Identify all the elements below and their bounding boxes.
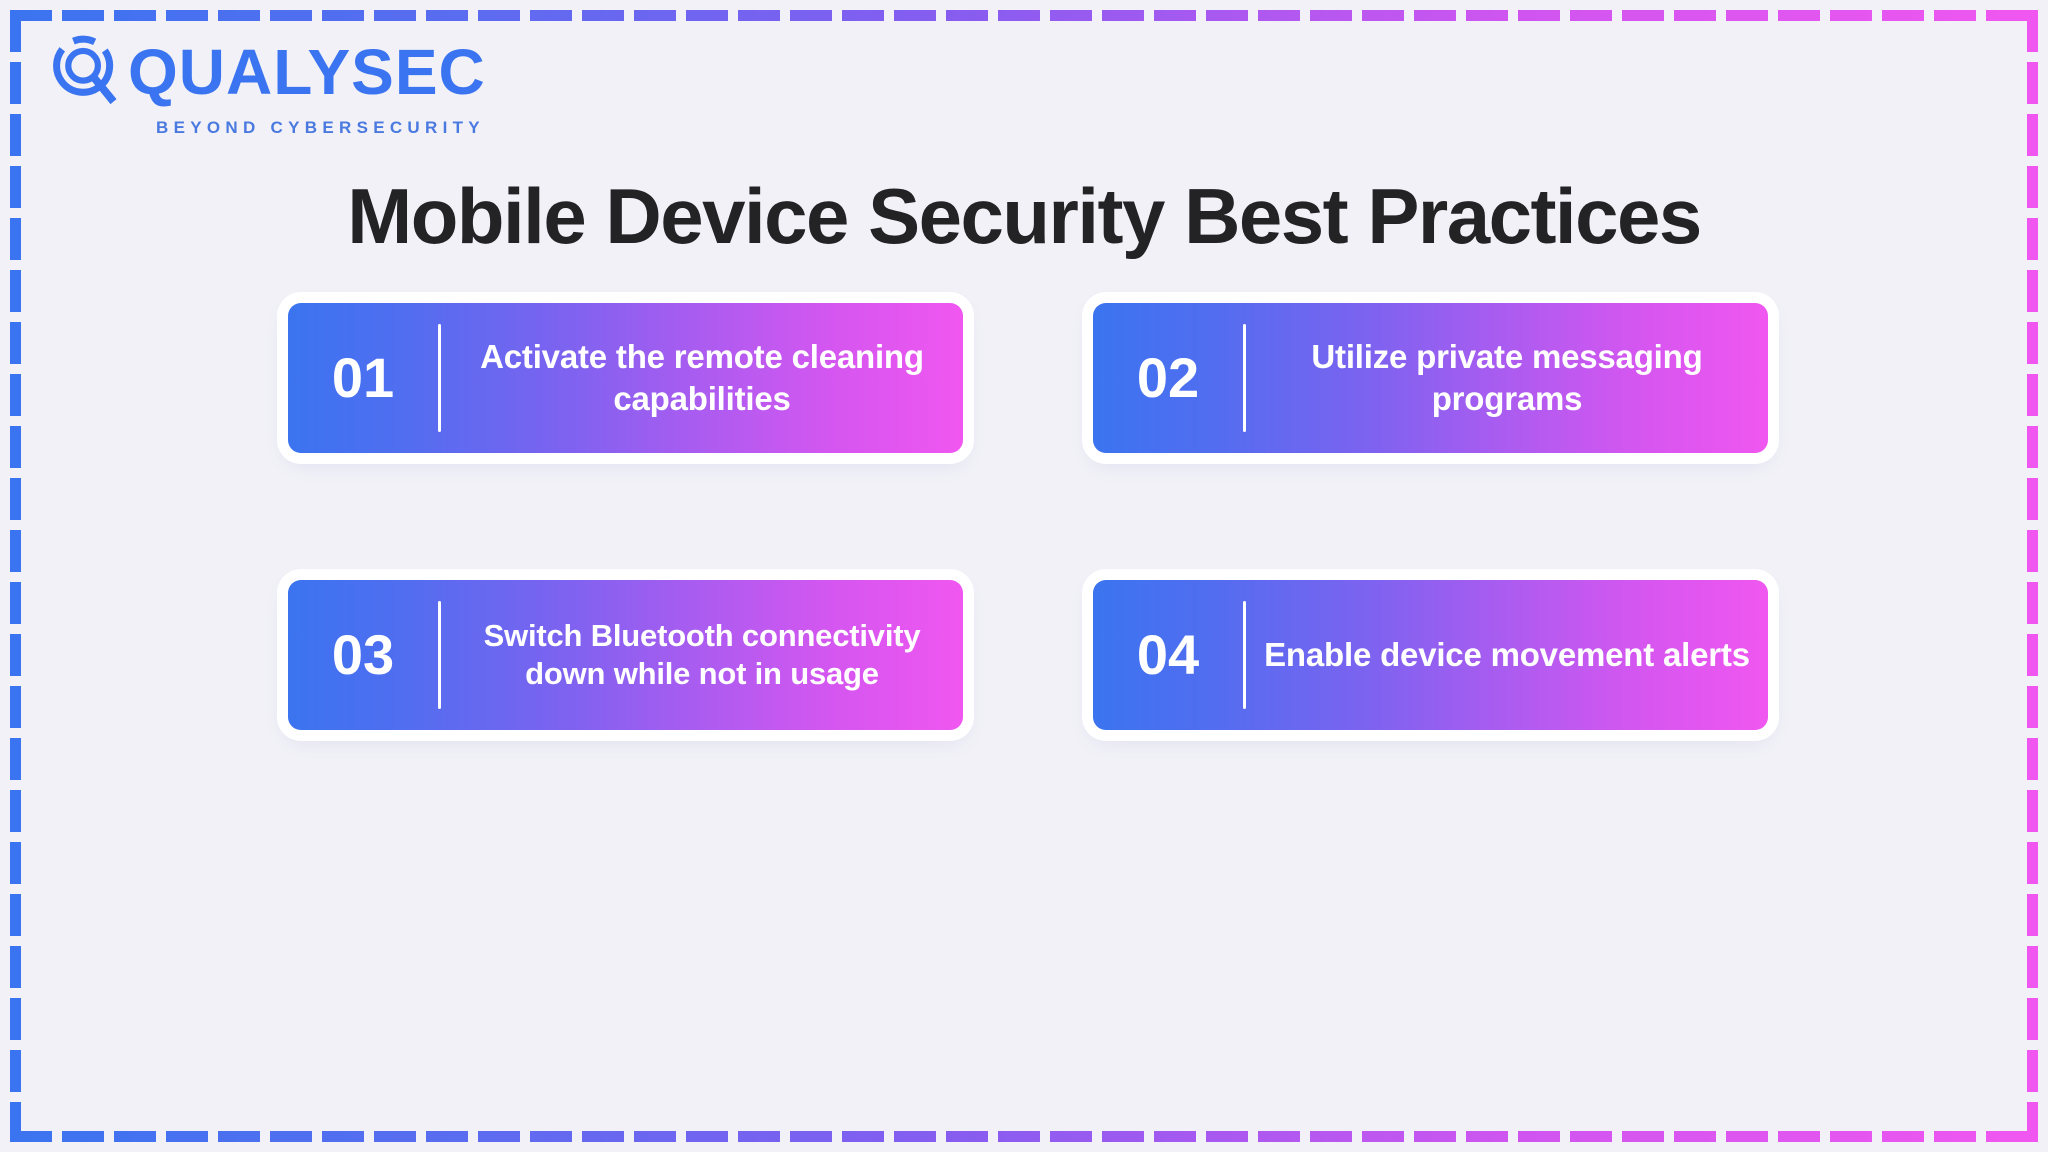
logo-tagline: BEYOND CYBERSECURITY [156, 118, 568, 138]
practice-card-04: 04 Enable device movement alerts [1093, 580, 1768, 730]
page-title: Mobile Device Security Best Practices [21, 176, 2027, 258]
poster-canvas: QUALYSEC BEYOND CYBERSECURITY Mobile Dev… [21, 21, 2027, 1131]
logo-wordmark: QUALYSEC [128, 40, 486, 104]
card-number: 03 [288, 627, 438, 683]
card-text: Activate the remote cleaning capabilitie… [441, 336, 963, 419]
card-text: Utilize private messaging programs [1246, 336, 1768, 419]
frame-border-top [10, 10, 2038, 21]
card-number: 01 [288, 350, 438, 406]
card-number: 04 [1093, 627, 1243, 683]
card-text: Enable device movement alerts [1246, 634, 1768, 676]
practice-card-grid: 01 Activate the remote cleaning capabili… [51, 303, 2005, 730]
brand-logo: QUALYSEC BEYOND CYBERSECURITY [48, 33, 568, 138]
practice-card-02: 02 Utilize private messaging programs [1093, 303, 1768, 453]
logo-row: QUALYSEC [48, 33, 568, 111]
infographic-poster: QUALYSEC BEYOND CYBERSECURITY Mobile Dev… [0, 0, 2048, 1152]
frame-border-right [2027, 10, 2038, 1142]
card-text: Switch Bluetooth connectivity down while… [441, 617, 963, 693]
card-number: 02 [1093, 350, 1243, 406]
frame-border-bottom [10, 1131, 2038, 1142]
practice-card-01: 01 Activate the remote cleaning capabili… [288, 303, 963, 453]
frame-border-left [10, 10, 21, 1142]
practice-card-03: 03 Switch Bluetooth connectivity down wh… [288, 580, 963, 730]
magnifier-q-icon [48, 33, 126, 111]
